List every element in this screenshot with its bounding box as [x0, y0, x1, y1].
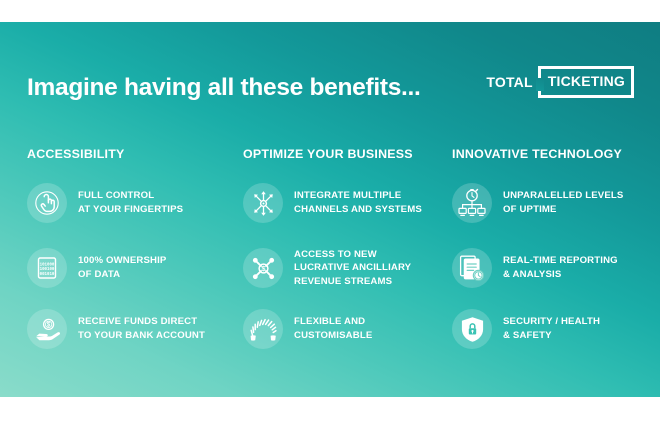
benefit-label-line: FULL CONTROL — [78, 189, 183, 203]
benefit-label-line: & ANALYSIS — [503, 268, 618, 282]
benefit-item: UNPARALELLED LEVELS OF UPTIME — [452, 179, 652, 227]
benefit-item: FLEXIBLE AND CUSTOMISABLE — [243, 305, 453, 353]
benefit-label: REAL-TIME REPORTING & ANALYSIS — [503, 254, 618, 281]
column-title: OPTIMIZE YOUR BUSINESS — [243, 147, 453, 161]
svg-text:001010: 001010 — [40, 273, 55, 277]
benefit-label-line: OF DATA — [78, 268, 166, 282]
benefit-label: FULL CONTROL AT YOUR FINGERTIPS — [78, 189, 183, 216]
benefit-label: FLEXIBLE AND CUSTOMISABLE — [294, 315, 372, 342]
benefit-column-accessibility: ACCESSIBILITY FULL CONTROL AT YOUR FINGE… — [27, 147, 242, 366]
flexible-fan-icon — [243, 309, 283, 349]
benefit-label-line: 100% OWNERSHIP — [78, 254, 166, 268]
benefit-label-line: INTEGRATE MULTIPLE — [294, 189, 422, 203]
svg-text:100100: 100100 — [40, 268, 55, 272]
benefit-item: FULL CONTROL AT YOUR FINGERTIPS — [27, 179, 242, 227]
svg-text:$: $ — [46, 322, 50, 328]
benefit-label: INTEGRATE MULTIPLE CHANNELS AND SYSTEMS — [294, 189, 422, 216]
benefit-label-line: CUSTOMISABLE — [294, 329, 372, 343]
benefit-label-line: LUCRATIVE ANCILLIARY — [294, 261, 411, 275]
benefit-item: INTEGRATE MULTIPLE CHANNELS AND SYSTEMS — [243, 179, 453, 227]
benefit-label: UNPARALELLED LEVELS OF UPTIME — [503, 189, 623, 216]
benefit-item: 101000 100100 001010 100% OWNERSHIP OF D… — [27, 244, 242, 292]
benefit-label-line: TO YOUR BANK ACCOUNT — [78, 329, 205, 343]
benefit-label-line: ACCESS TO NEW — [294, 248, 411, 262]
benefit-column-optimize-your-business: OPTIMIZE YOUR BUSINESS — [243, 147, 453, 366]
brand-logo: TOTAL TICKETING — [486, 64, 634, 100]
revenue-network-icon: $ — [243, 248, 283, 288]
benefit-label: ACCESS TO NEW LUCRATIVE ANCILLIARY REVEN… — [294, 248, 411, 289]
benefit-item: REAL-TIME REPORTING & ANALYSIS — [452, 244, 652, 292]
benefit-label-line: FLEXIBLE AND — [294, 315, 372, 329]
benefit-item: $ RECEIVE FUNDS DIRECT TO YOUR BANK ACCO… — [27, 305, 242, 353]
benefit-label-line: AT YOUR FINGERTIPS — [78, 203, 183, 217]
page-title: Imagine having all these benefits... — [27, 74, 421, 102]
report-clock-icon — [452, 248, 492, 288]
logo-word-ticketing: TICKETING — [548, 73, 625, 89]
stopwatch-network-icon — [452, 183, 492, 223]
multi-arrow-hub-icon — [243, 183, 283, 223]
hand-coin-icon: $ — [27, 309, 67, 349]
benefit-item: SECURITY / HEALTH & SAFETY — [452, 305, 652, 353]
logo-word-total: TOTAL — [486, 75, 532, 89]
logo-frame-notch — [536, 78, 544, 91]
benefit-label-line: OF UPTIME — [503, 203, 623, 217]
benefit-column-innovative-technology: INNOVATIVE TECHNOLOGY — [452, 147, 652, 366]
benefit-label: RECEIVE FUNDS DIRECT TO YOUR BANK ACCOUN… — [78, 315, 205, 342]
shield-lock-icon — [452, 309, 492, 349]
benefit-label: SECURITY / HEALTH & SAFETY — [503, 315, 600, 342]
benefit-item: $ ACCESS TO NEW LUCRATIVE ANCILLIARY REV… — [243, 244, 453, 292]
benefit-label-line: UNPARALELLED LEVELS — [503, 189, 623, 203]
binary-data-icon: 101000 100100 001010 — [27, 248, 67, 288]
benefit-label: 100% OWNERSHIP OF DATA — [78, 254, 166, 281]
logo-frame: TICKETING — [538, 66, 634, 98]
benefit-label-line: CHANNELS AND SYSTEMS — [294, 203, 422, 217]
column-title: INNOVATIVE TECHNOLOGY — [452, 147, 652, 161]
benefit-label-line: SECURITY / HEALTH — [503, 315, 600, 329]
slide-canvas: Imagine having all these benefits... TOT… — [0, 22, 660, 397]
benefit-label-line: REAL-TIME REPORTING — [503, 254, 618, 268]
touch-hand-icon — [27, 183, 67, 223]
column-title: ACCESSIBILITY — [27, 147, 242, 161]
benefit-label-line: REVENUE STREAMS — [294, 275, 411, 289]
svg-text:101000: 101000 — [40, 263, 55, 267]
svg-text:$: $ — [261, 266, 265, 273]
benefit-label-line: RECEIVE FUNDS DIRECT — [78, 315, 205, 329]
benefit-label-line: & SAFETY — [503, 329, 600, 343]
